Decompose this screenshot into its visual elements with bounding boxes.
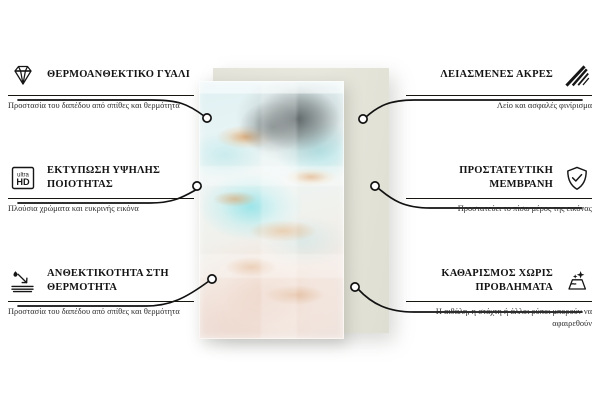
infographic-canvas: ΘΕΡΜΟΑΝΘΕΚΤΙΚΟ ΓΥΑΛΙ Προστασία του δαπέδ… — [0, 0, 600, 400]
feature-easy-cleaning: ΚΑΘΑΡΙΣΜΟΣ ΧΩΡΙΣ ΠΡΟΒΛΗΜΑΤΑ Η αιθάλη, η … — [406, 264, 592, 330]
feature-heat-resist: ΑΝΘΕΚΤΙΚΟΤΗΤΑ ΣΤΗ ΘΕΡΜΟΤΗΤΑ Προστασία το… — [8, 264, 194, 318]
feature-description: Λείο και ασφαλές φινίρισμα — [406, 100, 592, 112]
feature-heat-glass: ΘΕΡΜΟΑΝΘΕΚΤΙΚΟ ΓΥΑΛΙ Προστασία του δαπέδ… — [8, 58, 194, 112]
feature-heading: ΛΕΙΑΣΜΕΝΕΣ ΑΚΡΕΣ — [406, 58, 592, 92]
product-illustration — [175, 55, 425, 355]
feature-polished-edges: ΛΕΙΑΣΜΕΝΕΣ ΑΚΡΕΣ Λείο και ασφαλές φινίρι… — [406, 58, 592, 112]
ultra-hd-icon: ultra HD — [8, 163, 38, 193]
feature-title: ΛΕΙΑΣΜΕΝΕΣ ΑΚΡΕΣ — [440, 68, 553, 82]
feature-description: Προστασία του δαπέδου από σπίθες και θερ… — [8, 306, 194, 318]
ultra-hd-icon-hd-text: HD — [16, 177, 30, 187]
feature-heading: ultra HD ΕΚΤΥΠΩΣΗ ΥΨΗΛΗΣ ΠΟΙΟΤΗΤΑΣ — [8, 161, 194, 195]
feature-heading: ΠΡΟΣΤΑΤΕΥΤΙΚΗ ΜΕΜΒΡΑΝΗ — [406, 161, 592, 195]
feature-divider — [8, 95, 194, 96]
feature-heading: ΑΝΘΕΚΤΙΚΟΤΗΤΑ ΣΤΗ ΘΕΡΜΟΤΗΤΑ — [8, 264, 194, 298]
feature-title: ΚΑΘΑΡΙΣΜΟΣ ΧΩΡΙΣ ΠΡΟΒΛΗΜΑΤΑ — [406, 267, 553, 295]
glass-splashback-panel — [199, 81, 344, 339]
feature-title: ΕΚΤΥΠΩΣΗ ΥΨΗΛΗΣ ΠΟΙΟΤΗΤΑΣ — [47, 164, 194, 192]
feature-description: Προστατεύει το πίσω μέρος της εικόνας — [406, 203, 592, 215]
feature-heading: ΘΕΡΜΟΑΝΘΕΚΤΙΚΟ ΓΥΑΛΙ — [8, 58, 194, 92]
feature-divider — [406, 198, 592, 199]
feature-title: ΘΕΡΜΟΑΝΘΕΚΤΙΚΟ ΓΥΑΛΙ — [47, 68, 190, 82]
marble-art-print — [199, 81, 344, 339]
feature-heading: ΚΑΘΑΡΙΣΜΟΣ ΧΩΡΙΣ ΠΡΟΒΛΗΜΑΤΑ — [406, 264, 592, 298]
feature-divider — [8, 301, 194, 302]
diamond-icon — [8, 60, 38, 90]
feature-title: ΑΝΘΕΚΤΙΚΟΤΗΤΑ ΣΤΗ ΘΕΡΜΟΤΗΤΑ — [47, 267, 194, 295]
feature-description: Πλούσια χρώματα και ευκρινής εικόνα — [8, 203, 194, 215]
flame-deflect-icon — [8, 266, 38, 296]
feature-title: ΠΡΟΣΤΑΤΕΥΤΙΚΗ ΜΕΜΒΡΑΝΗ — [406, 164, 553, 192]
feature-protective-membrane: ΠΡΟΣΤΑΤΕΥΤΙΚΗ ΜΕΜΒΡΑΝΗ Προστατεύει το πί… — [406, 161, 592, 215]
feature-divider — [406, 301, 592, 302]
feature-description: Προστασία του δαπέδου από σπίθες και θερ… — [8, 100, 194, 112]
diagonal-lines-icon — [562, 60, 592, 90]
sponge-sparkle-icon — [562, 266, 592, 296]
feature-divider — [406, 95, 592, 96]
feature-description: Η αιθάλη, η στάχτη ή άλλοι ρύποι μπορούν… — [406, 306, 592, 330]
feature-divider — [8, 198, 194, 199]
shield-check-icon — [562, 163, 592, 193]
feature-hd-print: ultra HD ΕΚΤΥΠΩΣΗ ΥΨΗΛΗΣ ΠΟΙΟΤΗΤΑΣ Πλούσ… — [8, 161, 194, 215]
